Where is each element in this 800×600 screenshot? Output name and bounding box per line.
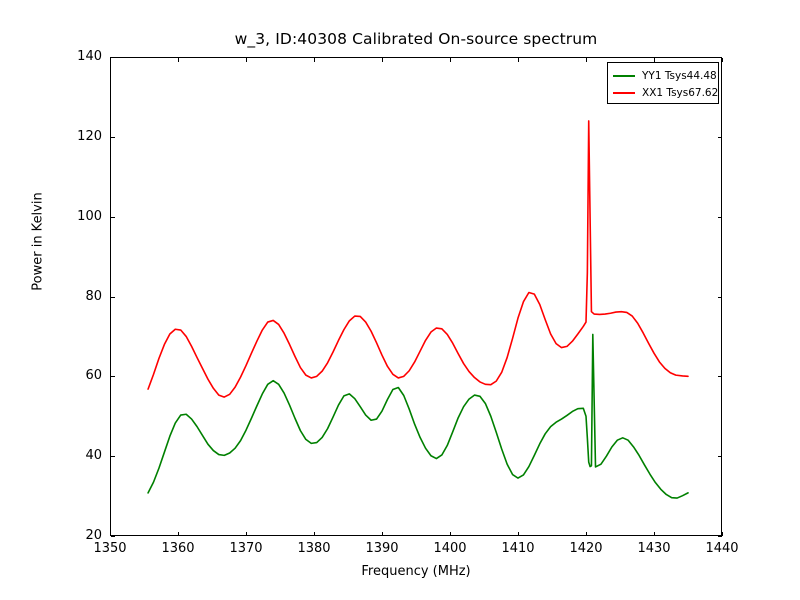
- y-tick-mark: [111, 57, 115, 58]
- x-tick-mark-top: [246, 58, 247, 62]
- y-tick-mark: [111, 536, 115, 537]
- y-tick-mark-right: [718, 297, 722, 298]
- y-tick-mark-right: [718, 57, 722, 58]
- x-tick-label: 1370: [216, 541, 276, 556]
- x-tick-mark-top: [722, 58, 723, 62]
- legend-swatch-xx1: [613, 92, 635, 94]
- x-tick-mark: [450, 532, 451, 536]
- y-tick-mark: [111, 456, 115, 457]
- chart-title: w_3, ID:40308 Calibrated On-source spect…: [110, 30, 722, 48]
- y-tick-label: 120: [58, 129, 102, 143]
- y-tick-label: 140: [58, 49, 102, 63]
- legend-label-yy1: YY1 Tsys44.48: [642, 70, 717, 82]
- series-line-xx1: [148, 121, 688, 397]
- y-tick-mark-right: [718, 536, 722, 537]
- x-tick-mark-top: [518, 58, 519, 62]
- x-tick-mark: [654, 532, 655, 536]
- x-tick-mark: [722, 532, 723, 536]
- x-tick-mark-top: [314, 58, 315, 62]
- x-axis-label: Frequency (MHz): [110, 564, 722, 579]
- x-tick-label: 1360: [148, 541, 208, 556]
- x-tick-mark: [314, 532, 315, 536]
- legend-item-yy1: YY1 Tsys44.48: [613, 67, 713, 84]
- y-tick-mark: [111, 217, 115, 218]
- x-tick-mark-top: [178, 58, 179, 62]
- legend-swatch-yy1: [613, 75, 635, 77]
- x-tick-label: 1390: [352, 541, 412, 556]
- x-tick-label: 1430: [624, 541, 684, 556]
- x-tick-mark: [246, 532, 247, 536]
- series-line-yy1: [148, 334, 688, 498]
- y-tick-mark-right: [718, 137, 722, 138]
- x-tick-label: 1350: [80, 541, 140, 556]
- x-tick-mark-top: [586, 58, 587, 62]
- x-tick-mark-top: [382, 58, 383, 62]
- x-tick-label: 1420: [556, 541, 616, 556]
- x-tick-mark: [586, 532, 587, 536]
- x-tick-label: 1410: [488, 541, 548, 556]
- legend: YY1 Tsys44.48 XX1 Tsys67.62: [607, 62, 719, 104]
- y-tick-mark-right: [718, 456, 722, 457]
- y-tick-mark-right: [718, 217, 722, 218]
- x-tick-mark: [178, 532, 179, 536]
- x-tick-mark-top: [110, 58, 111, 62]
- x-tick-mark: [382, 532, 383, 536]
- y-tick-label: 60: [58, 368, 102, 382]
- x-tick-label: 1380: [284, 541, 344, 556]
- y-tick-label: 80: [58, 289, 102, 303]
- spectrum-plot: [110, 57, 722, 536]
- x-tick-mark-top: [450, 58, 451, 62]
- y-tick-label: 20: [58, 528, 102, 542]
- legend-item-xx1: XX1 Tsys67.62: [613, 84, 713, 101]
- x-tick-label: 1440: [692, 541, 752, 556]
- y-tick-label: 40: [58, 448, 102, 462]
- y-tick-mark: [111, 297, 115, 298]
- y-tick-mark: [111, 376, 115, 377]
- y-tick-mark: [111, 137, 115, 138]
- y-tick-mark-right: [718, 376, 722, 377]
- figure-canvas: w_3, ID:40308 Calibrated On-source spect…: [0, 0, 800, 600]
- legend-label-xx1: XX1 Tsys67.62: [642, 87, 718, 99]
- y-tick-label: 100: [58, 209, 102, 223]
- y-axis-label: Power in Kelvin: [31, 142, 46, 342]
- x-tick-label: 1400: [420, 541, 480, 556]
- x-tick-mark: [518, 532, 519, 536]
- x-tick-mark-top: [654, 58, 655, 62]
